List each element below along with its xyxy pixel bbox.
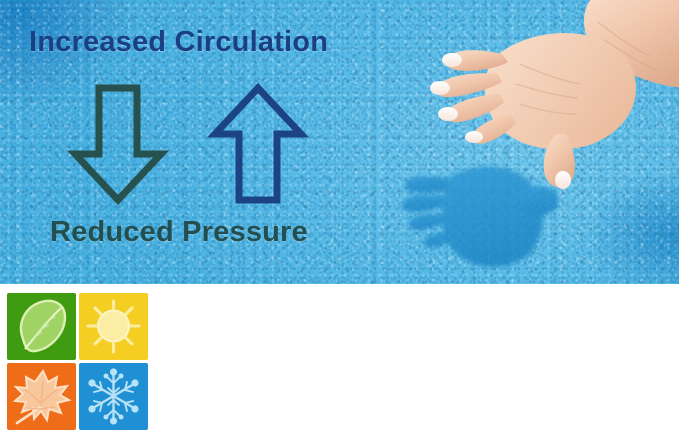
sun-icon [79, 293, 148, 360]
label-increased-circulation: Increased Circulation [29, 26, 328, 59]
arrow-down-icon [66, 82, 170, 206]
product-feature-poster: Increased Circulation Reduced Pressure [0, 0, 679, 436]
hand-pressing-foam [398, 0, 679, 204]
summer-sun-tile [79, 293, 148, 360]
season-icon-grid [7, 293, 148, 432]
arrow-up-icon [206, 82, 310, 206]
product-feature-bar: 100% GEL-Infused Memory Foam with Temper… [0, 284, 679, 436]
winter-snow-tile [79, 363, 148, 430]
label-reduced-pressure: Reduced Pressure [50, 216, 308, 249]
maple-leaf-icon [7, 363, 76, 430]
autumn-leaf-tile [7, 363, 76, 430]
snowflake-icon [79, 363, 148, 430]
spring-leaf-tile [7, 293, 76, 360]
memory-foam-photo: Increased Circulation Reduced Pressure [0, 0, 679, 284]
leaf-icon [7, 293, 76, 360]
